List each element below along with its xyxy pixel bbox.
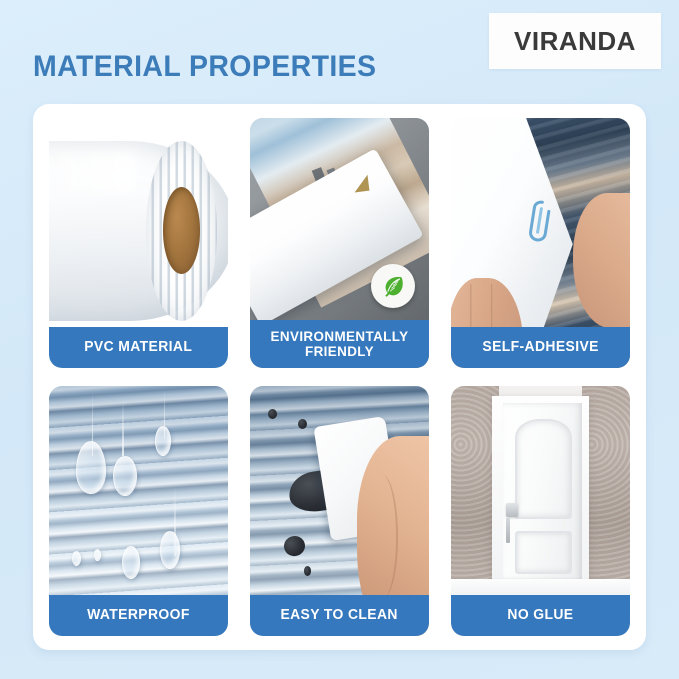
card-banner: WATERPROOF <box>49 595 228 636</box>
stain-mark <box>268 409 277 419</box>
water-droplet <box>72 551 81 566</box>
feature-card-environmentally-friendly[interactable]: ENVIRONMENTALLY FRIENDLY <box>250 118 429 368</box>
card-label: WATERPROOF <box>83 608 193 623</box>
water-trail <box>122 401 124 456</box>
door-frame <box>492 396 589 581</box>
feature-card-no-glue[interactable]: NO GLUE <box>451 386 630 636</box>
page-title: MATERIAL PROPERTIES <box>33 50 376 84</box>
card-banner: EASY TO CLEAN <box>250 595 429 636</box>
wall-right <box>582 386 630 581</box>
brand-badge: VIRANDA <box>489 13 661 69</box>
water-droplet <box>76 441 106 494</box>
brand-name: VIRANDA <box>514 26 636 57</box>
feature-grid: PVC MATERIAL <box>49 118 630 636</box>
water-droplet <box>94 549 101 562</box>
door-panel-bottom <box>515 531 572 574</box>
card-banner: SELF-ADHESIVE <box>451 327 630 368</box>
card-banner: NO GLUE <box>451 595 630 636</box>
card-label: PVC MATERIAL <box>81 340 197 355</box>
card-banner: PVC MATERIAL <box>49 327 228 368</box>
card-banner: ENVIRONMENTALLY FRIENDLY <box>250 320 429 368</box>
roll-end-cap <box>352 174 369 192</box>
feature-card-self-adhesive[interactable]: SELF-ADHESIVE <box>451 118 630 368</box>
card-label: EASY TO CLEAN <box>277 608 402 623</box>
door <box>503 403 582 581</box>
stain-mark <box>304 566 311 576</box>
card-label: NO GLUE <box>504 608 578 623</box>
eco-leaf-icon <box>371 264 415 308</box>
feature-card-easy-to-clean[interactable]: EASY TO CLEAN <box>250 386 429 636</box>
pvc-roll-highlight <box>49 153 135 193</box>
water-droplet <box>160 531 180 569</box>
stain-mark <box>298 419 307 429</box>
door-handle <box>506 503 519 517</box>
feature-card-pvc-material[interactable]: PVC MATERIAL <box>49 118 228 368</box>
water-droplet <box>122 546 140 579</box>
pvc-roll-core <box>163 187 201 275</box>
card-label: SELF-ADHESIVE <box>478 340 602 355</box>
stain-mark <box>282 534 308 559</box>
feature-panel: PVC MATERIAL <box>33 104 646 650</box>
water-droplet <box>155 426 171 456</box>
door-panel-top <box>515 419 572 518</box>
water-droplet <box>113 456 136 496</box>
card-label: ENVIRONMENTALLY FRIENDLY <box>254 329 426 358</box>
feature-card-waterproof[interactable]: WATERPROOF <box>49 386 228 636</box>
